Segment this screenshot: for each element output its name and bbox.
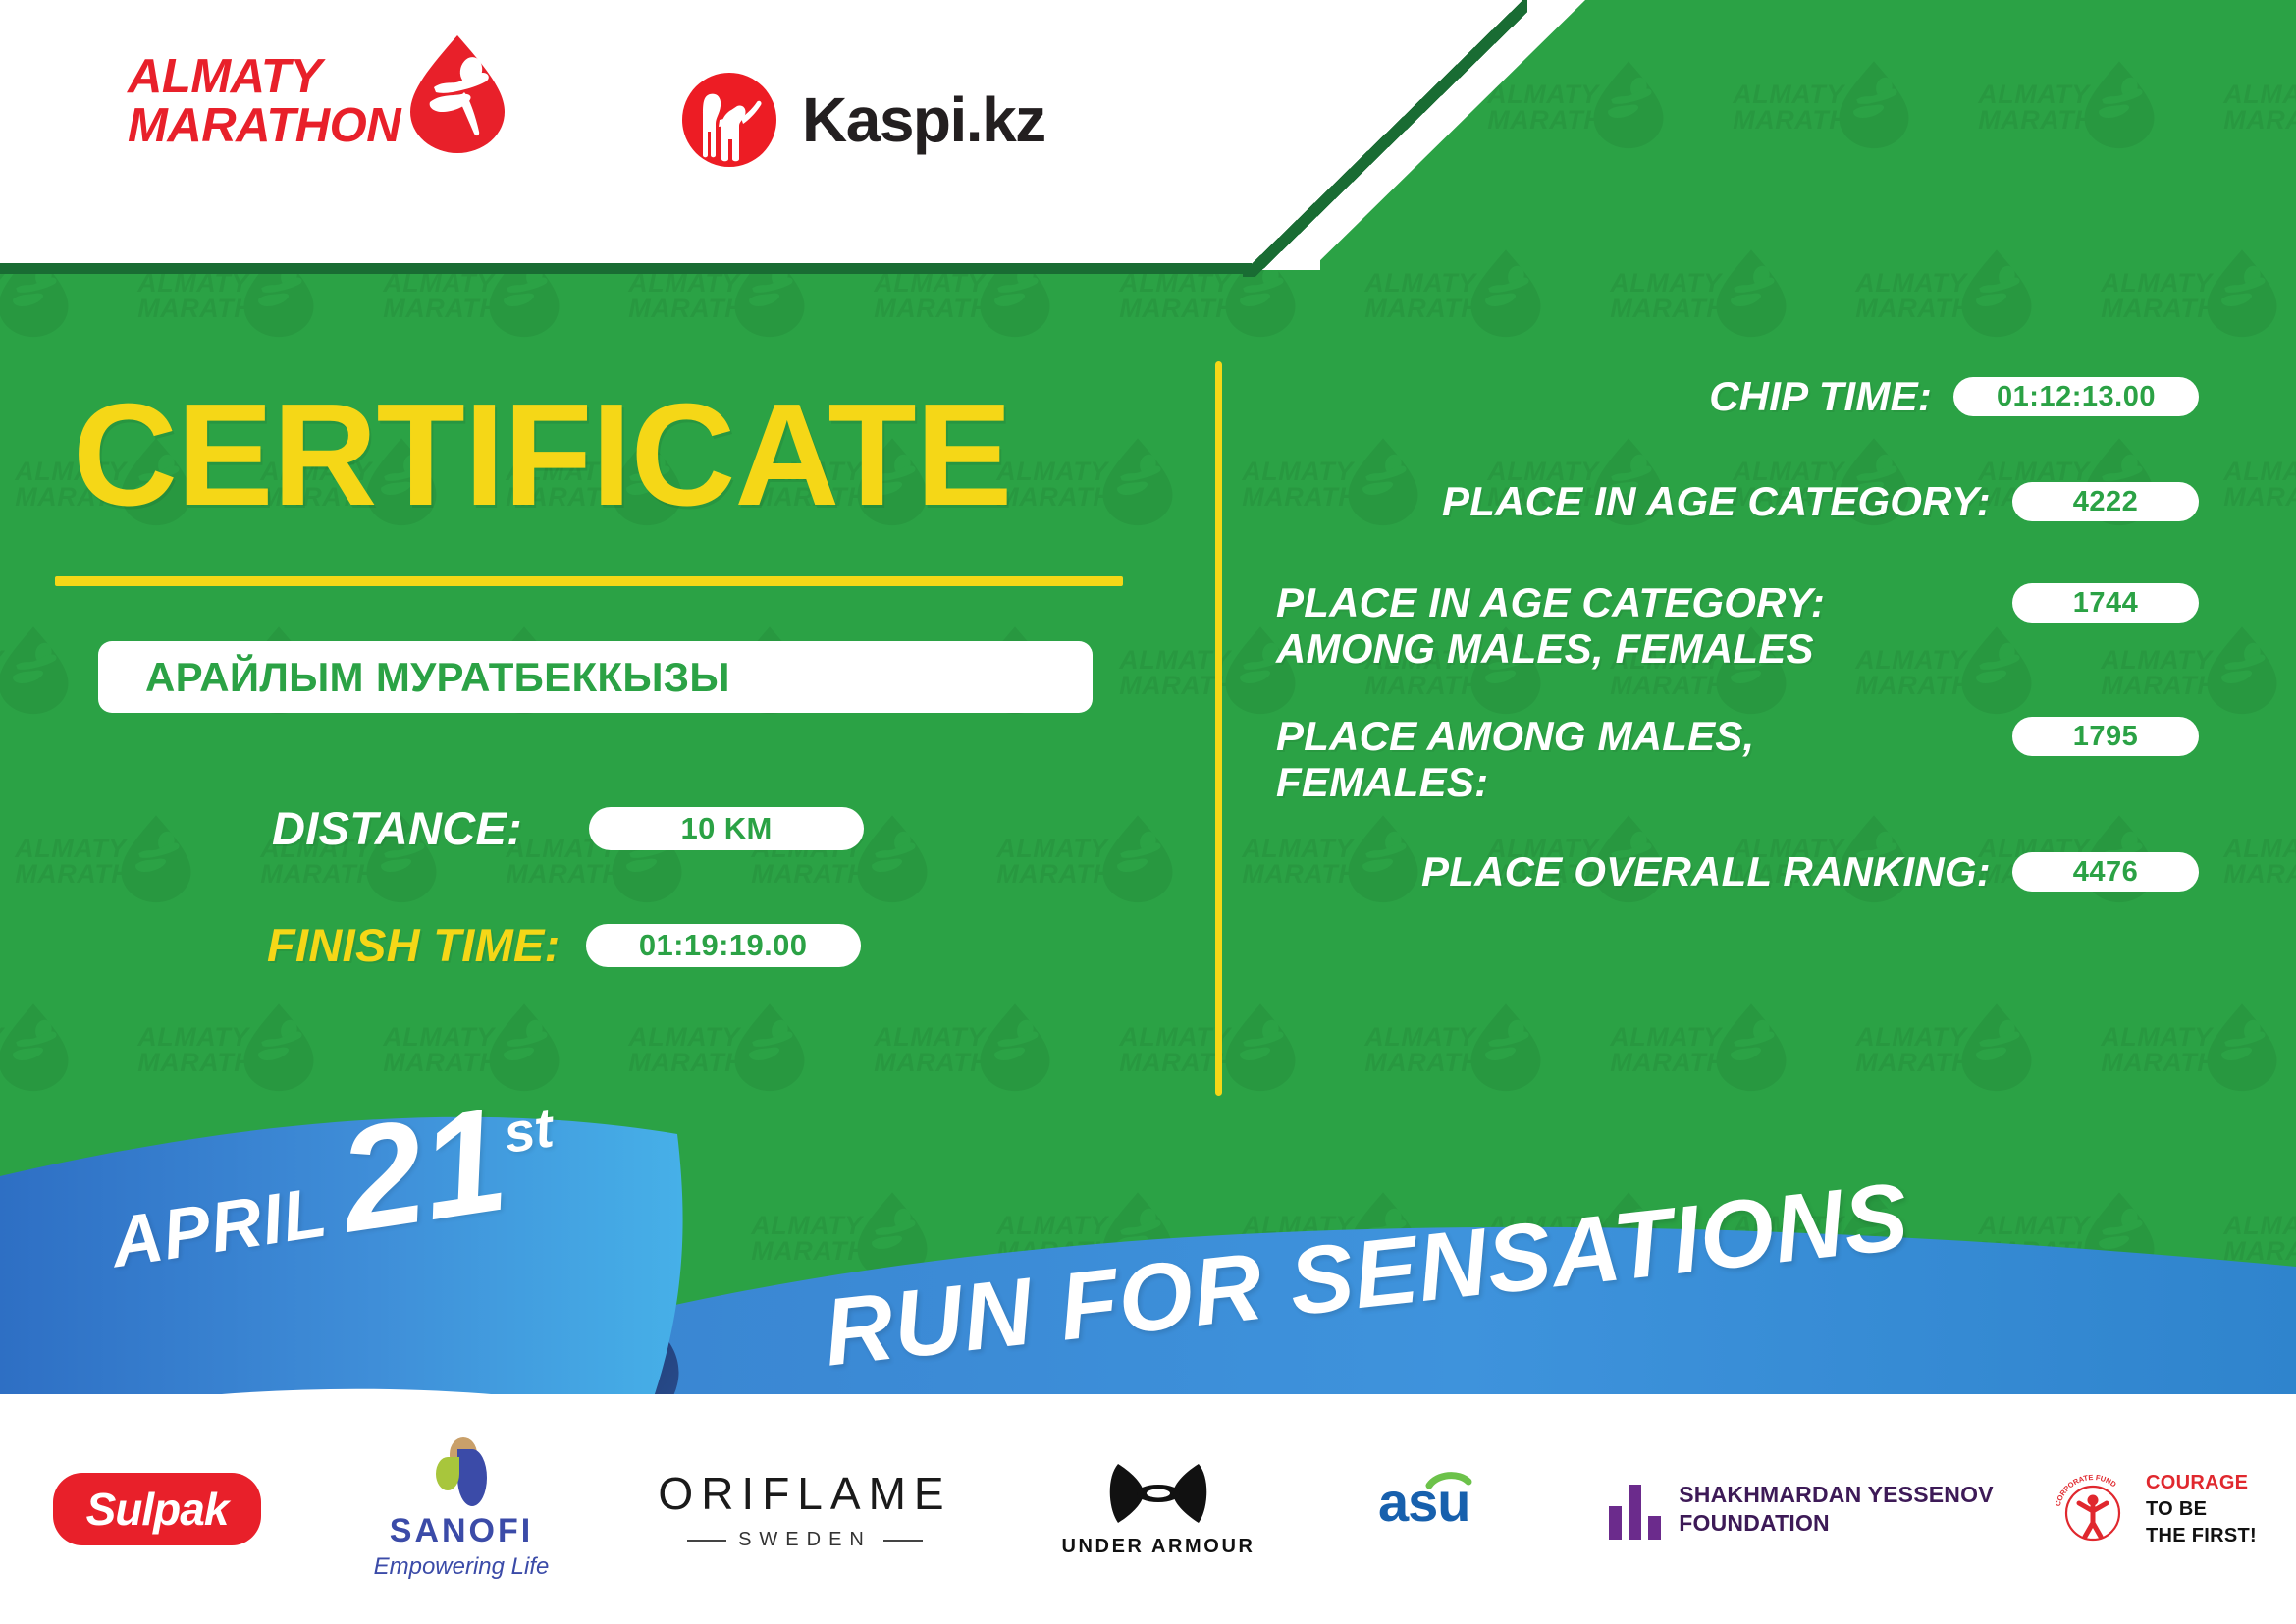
sponsor-under-armour: UNDER ARMOUR — [1001, 1460, 1315, 1558]
label-line-1: PLACE AMONG MALES, — [1276, 713, 1991, 759]
chip-time-label: CHIP TIME: — [1276, 373, 1953, 419]
divider-line-right — [883, 1540, 923, 1542]
participant-name-field: АРАЙЛЫМ МУРАТБЕККЫЗЫ — [98, 641, 1093, 713]
sponsor-bar: Sulpak SANOFI Empowering Life ORIFLAME S… — [0, 1394, 2296, 1624]
courage-fund-wordmark: COURAGE TO BE THE FIRST! — [2146, 1470, 2257, 1549]
sulpak-logo: Sulpak — [53, 1473, 261, 1545]
almaty-line: ALMATY — [128, 53, 400, 102]
sponsor-oriflame: ORIFLAME SWEDEN — [609, 1467, 1001, 1551]
distance-row: DISTANCE: 10 KM — [272, 801, 864, 855]
place-overall-value: 4476 — [2012, 852, 2199, 892]
sponsor-sulpak: Sulpak — [0, 1473, 314, 1545]
certificate-page: ALMATYMARATHONALMATYMARATHONALMATYMARATH… — [0, 0, 2296, 1624]
svg-text:asu: asu — [1378, 1471, 1470, 1533]
place-age-category-gender-row: PLACE IN AGE CATEGORY: AMONG MALES, FEMA… — [1276, 579, 2199, 672]
almaty-marathon-wordmark: ALMATY MARATHON — [128, 53, 400, 151]
label-line-2: AMONG MALES, FEMALES — [1276, 625, 1991, 672]
yessenov-line-2: FOUNDATION — [1679, 1509, 1994, 1538]
oriflame-sub: SWEDEN — [687, 1529, 923, 1551]
runner-drop-icon — [408, 33, 507, 153]
asu-wordmark: asu — [1374, 1468, 1531, 1550]
oriflame-wordmark: ORIFLAME — [658, 1467, 951, 1520]
title-underline — [55, 576, 1123, 586]
courage-line-1: COURAGE — [2146, 1470, 2257, 1496]
courage-line-2: TO BE — [2146, 1496, 2257, 1523]
kaspi-logo: Kaspi.kz — [680, 71, 1045, 169]
courage-line-3: THE FIRST! — [2146, 1523, 2257, 1549]
place-age-category-label: PLACE IN AGE CATEGORY: — [1276, 478, 2012, 524]
label-line-2: FEMALES: — [1276, 759, 1991, 805]
marathon-line: MARATHON — [128, 102, 400, 151]
place-age-category-gender-value: 1744 — [2012, 583, 2199, 623]
almaty-marathon-logo: ALMATY MARATHON — [128, 51, 507, 153]
place-age-category-value: 4222 — [2012, 482, 2199, 521]
distance-value: 10 KM — [589, 807, 864, 850]
sponsor-sanofi: SANOFI Empowering Life — [314, 1437, 609, 1581]
distance-label: DISTANCE: — [272, 801, 522, 855]
place-age-category-row: PLACE IN AGE CATEGORY: 4222 — [1276, 478, 2199, 524]
courage-fund-logo: CORPORATE FUND COURAGE TO BE THE FIRST! — [2052, 1468, 2257, 1550]
sanofi-icon — [430, 1437, 493, 1506]
participant-name: АРАЙЛЫМ МУРАТБЕККЫЗЫ — [145, 654, 730, 701]
header-dark-edge — [0, 263, 1252, 274]
yessenov-logo: SHAKHMARDAN YESSENOV FOUNDATION — [1609, 1479, 1994, 1540]
sponsor-courage-fund: CORPORATE FUND COURAGE TO BE THE FIRST! — [2012, 1468, 2296, 1550]
vertical-divider — [1215, 361, 1222, 1096]
oriflame-country: SWEDEN — [738, 1529, 872, 1551]
kaspi-wordmark: Kaspi.kz — [802, 83, 1045, 156]
yessenov-line-1: SHAKHMARDAN YESSENOV — [1679, 1481, 1994, 1509]
event-day: 21 — [332, 1092, 513, 1247]
finish-time-row: FINISH TIME: 01:19:19.00 — [267, 918, 861, 972]
stats-panel: CHIP TIME: 01:12:13.00 PLACE IN AGE CATE… — [1276, 373, 2199, 928]
divider-line-left — [687, 1540, 726, 1542]
kaspi-people-icon — [680, 71, 778, 169]
header-dark-diagonal — [1243, 0, 1527, 277]
page-title: CERTIFICATE — [73, 383, 1011, 528]
svg-text:CORPORATE FUND: CORPORATE FUND — [2054, 1473, 2119, 1507]
place-overall-row: PLACE OVERALL RANKING: 4476 — [1276, 848, 2199, 894]
finish-time-label: FINISH TIME: — [267, 918, 561, 972]
sponsor-yessenov-foundation: SHAKHMARDAN YESSENOV FOUNDATION — [1590, 1479, 2012, 1540]
under-armour-icon — [1100, 1460, 1216, 1529]
place-among-gender-label: PLACE AMONG MALES, FEMALES: — [1276, 713, 2012, 805]
sanofi-wordmark: SANOFI — [390, 1512, 533, 1550]
label-line-1: PLACE IN AGE CATEGORY: — [1276, 579, 1991, 625]
place-among-gender-value: 1795 — [2012, 717, 2199, 756]
event-day-ordinal: st — [500, 1095, 558, 1165]
place-overall-label: PLACE OVERALL RANKING: — [1276, 848, 2012, 894]
under-armour-wordmark: UNDER ARMOUR — [1061, 1536, 1255, 1558]
yessenov-wordmark: SHAKHMARDAN YESSENOV FOUNDATION — [1679, 1481, 1994, 1538]
sponsor-asu: asu — [1315, 1468, 1590, 1550]
finish-time-value: 01:19:19.00 — [586, 924, 861, 967]
chip-time-row: CHIP TIME: 01:12:13.00 — [1276, 373, 2199, 419]
place-age-category-gender-label: PLACE IN AGE CATEGORY: AMONG MALES, FEMA… — [1276, 579, 2012, 672]
yessenov-icon — [1609, 1479, 1661, 1540]
place-among-gender-row: PLACE AMONG MALES, FEMALES: 1795 — [1276, 713, 2199, 805]
courage-fund-icon: CORPORATE FUND — [2052, 1468, 2134, 1550]
sanofi-tagline: Empowering Life — [374, 1553, 550, 1581]
chip-time-value: 01:12:13.00 — [1953, 377, 2199, 416]
